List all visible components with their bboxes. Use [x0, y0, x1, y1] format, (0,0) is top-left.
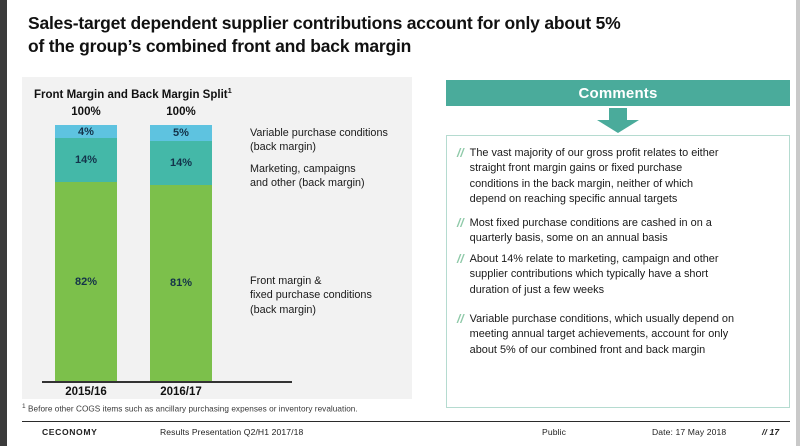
bar-segment-variable-2015-16: 4%	[55, 125, 117, 138]
comment-2-line-1: Most fixed purchase conditions are cashe…	[470, 216, 712, 231]
bar-segment-front-2016-17: 81%	[150, 185, 212, 381]
bar-segment-marketing-2016-17: 14%	[150, 141, 212, 185]
footnote-text: Before other COGS items such as ancillar…	[28, 405, 358, 414]
bullet-marker-icon: //	[457, 252, 464, 298]
footer-brand: CECONOMY	[42, 427, 97, 443]
slide-left-rail	[0, 0, 7, 446]
comment-2-line-2: quarterly basis, some on an annual basis	[470, 231, 712, 246]
page-title-line-1: Sales-target dependent supplier contribu…	[28, 12, 768, 35]
legend-front-line-1: Front margin &	[250, 274, 372, 288]
chart-panel: Front Margin and Back Margin Split1 100%…	[22, 77, 412, 399]
legend-front-line-2: fixed purchase conditions	[250, 288, 372, 302]
comment-item-1-text: The vast majority of our gross profit re…	[470, 146, 719, 208]
bullet-marker-icon: //	[457, 312, 464, 358]
bar-segment-front-2015-16: 82%	[55, 182, 117, 381]
comment-1-line-2: straight front margin gains or fixed pur…	[470, 161, 719, 176]
comments-header-label: Comments	[578, 85, 657, 102]
x-axis-line	[42, 381, 292, 383]
bar-2015-16[interactable]: 4% 14% 82%	[55, 125, 117, 381]
bar-total-2015-16: 100%	[55, 106, 117, 118]
legend-variable-line-1: Variable purchase conditions	[250, 126, 388, 140]
bullet-marker-icon: //	[457, 216, 464, 247]
legend-marketing-line-2: and other (back margin)	[250, 176, 365, 190]
bar-segment-variable-2016-17: 5%	[150, 125, 212, 141]
comments-header: Comments	[446, 80, 790, 106]
comment-item-3: // About 14% relate to marketing, campai…	[457, 252, 783, 298]
footer-document-title: Results Presentation Q2/H1 2017/18	[160, 427, 303, 443]
x-axis-label-2015-16: 2015/16	[55, 386, 117, 398]
comment-item-2: // Most fixed purchase conditions are ca…	[457, 216, 783, 247]
footer-divider	[22, 421, 790, 422]
comment-3-line-3: duration of just a few weeks	[470, 283, 719, 298]
bar-segment-marketing-2015-16: 14%	[55, 138, 117, 182]
stacked-bar-plot: 100% 4% 14% 82% 100% 5% 14% 81% 2015/16 …	[22, 77, 412, 399]
bullet-marker-icon: //	[457, 146, 464, 208]
page-title-line-2: of the group’s combined front and back m…	[28, 35, 768, 58]
page-title: Sales-target dependent supplier contribu…	[28, 12, 768, 58]
legend-marketing-line-1: Marketing, campaigns	[250, 162, 365, 176]
legend-front-margin: Front margin & fixed purchase conditions…	[250, 274, 372, 317]
comment-item-3-text: About 14% relate to marketing, campaign …	[470, 252, 719, 298]
x-axis-label-2016-17: 2016/17	[150, 386, 212, 398]
down-arrow-icon	[596, 108, 640, 134]
footer-page-number: // 17	[762, 427, 779, 443]
comment-item-4-text: Variable purchase conditions, which usua…	[470, 312, 734, 358]
footer-classification: Public	[542, 427, 566, 443]
comment-3-line-1: About 14% relate to marketing, campaign …	[470, 252, 719, 267]
comment-1-line-4: depend on reaching specific annual targe…	[470, 192, 719, 207]
comment-4-line-1: Variable purchase conditions, which usua…	[470, 312, 734, 327]
comment-1-line-1: The vast majority of our gross profit re…	[470, 146, 719, 161]
comment-3-line-2: supplier contributions which typically h…	[470, 267, 719, 282]
bar-2016-17[interactable]: 5% 14% 81%	[150, 125, 212, 381]
slide-right-rail	[796, 0, 800, 446]
comment-item-1: // The vast majority of our gross profit…	[457, 146, 783, 208]
comment-4-line-2: meeting annual target achievements, acco…	[470, 327, 734, 342]
comment-4-line-3: about 5% of our combined front and back …	[470, 343, 734, 358]
footer-date: Date: 17 May 2018	[652, 427, 726, 443]
footnote-marker: 1	[22, 403, 26, 410]
legend-variable-line-2: (back margin)	[250, 140, 388, 154]
legend-variable-purchase-conditions: Variable purchase conditions (back margi…	[250, 126, 388, 155]
comment-item-2-text: Most fixed purchase conditions are cashe…	[470, 216, 712, 247]
bar-total-2016-17: 100%	[150, 106, 212, 118]
chart-footnote: 1 Before other COGS items such as ancill…	[22, 403, 442, 414]
comments-box: // The vast majority of our gross profit…	[446, 135, 790, 408]
comment-item-4: // Variable purchase conditions, which u…	[457, 312, 783, 358]
legend-front-line-3: (back margin)	[250, 303, 372, 317]
comment-1-line-3: conditions in the back margin, neither o…	[470, 177, 719, 192]
legend-marketing-campaigns: Marketing, campaigns and other (back mar…	[250, 162, 365, 191]
